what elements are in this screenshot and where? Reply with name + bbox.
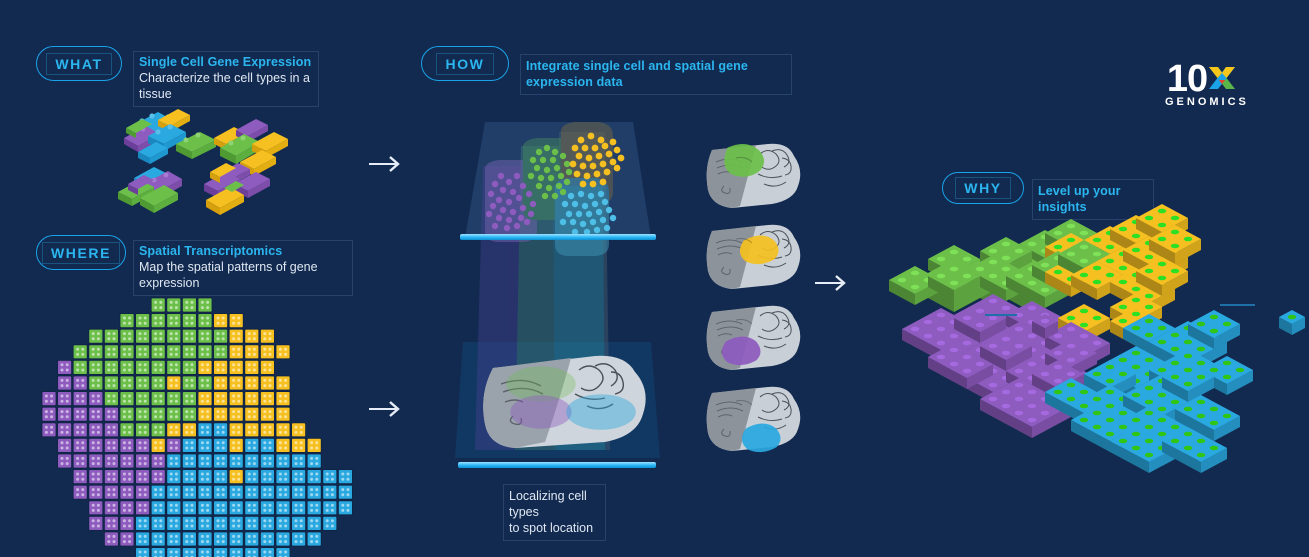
highlight-region: [722, 337, 760, 365]
spot-tile: [151, 516, 165, 530]
spot-tile: [167, 532, 181, 546]
spot-tile: [198, 423, 212, 437]
spot-tile: [245, 501, 259, 515]
caption-what-desc: Characterize the cell types in a tissue: [139, 70, 313, 102]
spot-tile: [104, 454, 118, 468]
spot-tile: [260, 392, 274, 406]
spot-tile: [73, 376, 87, 390]
spot-tile: [182, 376, 196, 390]
spot-tile: [136, 470, 150, 484]
spot-tile: [276, 454, 290, 468]
spot-tile: [198, 329, 212, 343]
spot-tile: [214, 485, 228, 499]
spot-tile: [151, 501, 165, 515]
spot-tile: [229, 407, 243, 421]
caption-what-title: Single Cell Gene Expression: [139, 55, 313, 70]
spot-tile: [89, 392, 103, 406]
pill-where: WHERE: [36, 235, 126, 270]
spot-tile: [151, 485, 165, 499]
caption-how-title: Integrate single cell and spatial gene e…: [526, 58, 786, 90]
spot-tile: [151, 298, 165, 312]
spot-tile: [182, 532, 196, 546]
spot-tile: [73, 345, 87, 359]
spot-tile: [198, 516, 212, 530]
spot-tile: [120, 360, 134, 374]
spot-tile: [89, 376, 103, 390]
caption-localizing-line1: Localizing cell types: [509, 488, 600, 520]
spot-tile: [73, 407, 87, 421]
spot-tile: [136, 485, 150, 499]
spot-tile: [182, 485, 196, 499]
spot-tile: [229, 532, 243, 546]
spot-tile: [260, 485, 274, 499]
spot-tile: [120, 501, 134, 515]
spot-tile: [167, 392, 181, 406]
highlight-region: [725, 144, 764, 176]
spot-tile: [89, 407, 103, 421]
cyan-bar-top: [460, 234, 656, 240]
spot-tile: [104, 501, 118, 515]
spot-tile: [104, 423, 118, 437]
spot-tile: [120, 423, 134, 437]
spot-tile: [245, 407, 259, 421]
spot-tile: [182, 360, 196, 374]
spot-tile: [89, 454, 103, 468]
spot-tile: [89, 345, 103, 359]
spot-tile: [167, 516, 181, 530]
spot-tile: [292, 438, 306, 452]
arrow-single-cell-to-integration: [368, 152, 404, 176]
caption-how: Integrate single cell and spatial gene e…: [520, 54, 792, 95]
spot-tile: [42, 392, 56, 406]
spot-tile: [182, 516, 196, 530]
spot-tile: [292, 532, 306, 546]
spot-tile: [307, 516, 321, 530]
spot-tile: [120, 329, 134, 343]
spot-tile: [276, 470, 290, 484]
spot-tile: [182, 501, 196, 515]
spot-tile: [323, 470, 337, 484]
spot-tile: [167, 485, 181, 499]
spot-tile: [214, 548, 228, 557]
spot-tile: [229, 376, 243, 390]
spot-tile: [151, 438, 165, 452]
spot-tile: [198, 454, 212, 468]
spot-tile: [136, 376, 150, 390]
spot-tile: [167, 548, 181, 557]
spot-tile: [104, 360, 118, 374]
spot-tile: [167, 454, 181, 468]
spot-tile: [42, 423, 56, 437]
spot-tile: [214, 376, 228, 390]
spot-tile: [307, 438, 321, 452]
caption-where-desc: Map the spatial patterns of gene express…: [139, 259, 347, 291]
spot-tile: [120, 314, 134, 328]
spot-tile: [89, 485, 103, 499]
spot-tile: [245, 392, 259, 406]
spot-tile: [276, 548, 290, 557]
spot-tile: [276, 516, 290, 530]
spot-tile: [198, 407, 212, 421]
spot-tile: [323, 501, 337, 515]
logo-wordmark: GENOMICS: [1165, 96, 1237, 108]
pill-how-label: HOW: [436, 53, 493, 75]
spot-tile: [104, 376, 118, 390]
spot-tile: [182, 407, 196, 421]
spot-tile: [73, 454, 87, 468]
spot-tile: [89, 329, 103, 343]
spot-tile: [338, 485, 352, 499]
spot-tile: [167, 376, 181, 390]
spot-tile: [89, 438, 103, 452]
spot-tile: [120, 454, 134, 468]
spot-tile: [151, 423, 165, 437]
spot-tile: [136, 532, 150, 546]
spot-tile: [198, 548, 212, 557]
spot-tile: [182, 345, 196, 359]
spot-tile: [120, 470, 134, 484]
spot-tile: [214, 454, 228, 468]
spot-tile: [323, 516, 337, 530]
spot-tile: [151, 454, 165, 468]
spot-tile: [198, 298, 212, 312]
spot-tile: [151, 532, 165, 546]
caption-why: Level up your insights: [1032, 179, 1154, 220]
spot-tile: [136, 392, 150, 406]
spot-tile: [245, 376, 259, 390]
caption-localizing-line2: to spot location: [509, 520, 600, 536]
spot-tile: [229, 485, 243, 499]
region-blue: [567, 395, 635, 429]
spot-tile: [214, 392, 228, 406]
spot-tile: [276, 485, 290, 499]
spot-tile: [167, 329, 181, 343]
spot-tile: [276, 532, 290, 546]
spot-tile: [136, 548, 150, 557]
spot-tile: [276, 376, 290, 390]
spot-tile: [58, 423, 72, 437]
spot-tile: [229, 329, 243, 343]
spot-tile: [245, 345, 259, 359]
spot-tile: [182, 298, 196, 312]
caption-localizing: Localizing cell types to spot location: [503, 484, 606, 541]
spot-tile: [89, 360, 103, 374]
spot-tile: [73, 438, 87, 452]
spot-tile: [136, 438, 150, 452]
spot-tile: [307, 485, 321, 499]
lego-brick-clusters: [118, 100, 308, 210]
spot-tile: [151, 360, 165, 374]
spot-tile: [214, 532, 228, 546]
spot-tile: [245, 454, 259, 468]
spot-tile: [214, 438, 228, 452]
spot-tile: [167, 345, 181, 359]
spot-tile: [276, 392, 290, 406]
spot-tile: [260, 423, 274, 437]
spot-tile: [214, 360, 228, 374]
spot-tile: [260, 376, 274, 390]
spot-tile: [198, 376, 212, 390]
spot-tile: [182, 470, 196, 484]
spot-tile: [136, 407, 150, 421]
spot-tile: [151, 407, 165, 421]
spot-tile: [276, 345, 290, 359]
logo-x-icon: [1209, 67, 1235, 97]
spot-tile: [229, 360, 243, 374]
spot-tile: [151, 548, 165, 557]
spot-tile: [136, 345, 150, 359]
spot-tile: [120, 407, 134, 421]
spot-tile: [136, 360, 150, 374]
pill-why: WHY: [942, 172, 1024, 204]
spot-tile: [151, 470, 165, 484]
spot-tile: [307, 501, 321, 515]
spot-tile: [245, 485, 259, 499]
pill-how: HOW: [421, 46, 509, 81]
brain-section: [707, 306, 801, 370]
spot-tile: [198, 392, 212, 406]
lego-block: [1279, 310, 1305, 335]
spot-tile: [104, 392, 118, 406]
spot-tile: [214, 407, 228, 421]
spot-tile: [151, 392, 165, 406]
brain-section: [707, 144, 801, 208]
spot-tile: [167, 360, 181, 374]
spot-tile: [58, 360, 72, 374]
spot-tile: [276, 438, 290, 452]
spot-tile: [260, 407, 274, 421]
spot-tile: [120, 345, 134, 359]
spot-tile: [292, 470, 306, 484]
spot-tile: [323, 485, 337, 499]
spot-tile: [167, 470, 181, 484]
spot-tile: [338, 470, 352, 484]
spot-tile: [214, 516, 228, 530]
spot-tile: [167, 407, 181, 421]
arrow-spatial-to-integration: [368, 397, 404, 421]
spot-tile: [104, 470, 118, 484]
caption-why-title: Level up your insights: [1038, 183, 1148, 215]
highlight-region: [742, 424, 780, 452]
spot-tile: [307, 454, 321, 468]
spot-tile: [260, 548, 274, 557]
spot-tile: [58, 438, 72, 452]
spot-tile: [89, 501, 103, 515]
brain-section: [707, 225, 801, 289]
spot-tile: [245, 423, 259, 437]
caption-what: Single Cell Gene Expression Characterize…: [133, 51, 319, 107]
spot-tile: [292, 485, 306, 499]
spot-tile: [260, 501, 274, 515]
spot-tile: [182, 314, 196, 328]
spot-tile: [151, 345, 165, 359]
caption-where-title: Spatial Transcriptomics: [139, 244, 347, 259]
spot-tile: [136, 454, 150, 468]
spot-tile: [245, 532, 259, 546]
spot-tile: [120, 532, 134, 546]
spot-tile: [104, 485, 118, 499]
spot-tile: [182, 423, 196, 437]
spot-tile: [182, 392, 196, 406]
spot-tile: [338, 501, 352, 515]
spot-tile: [73, 470, 87, 484]
spot-tile: [245, 516, 259, 530]
brain-section: [707, 387, 801, 452]
spot-tile: [151, 314, 165, 328]
spot-tile: [89, 516, 103, 530]
spot-tile: [151, 376, 165, 390]
spot-tile: [198, 314, 212, 328]
spot-tile: [182, 438, 196, 452]
spot-tile: [276, 423, 290, 437]
highlight-region: [740, 236, 778, 264]
spot-tile: [58, 376, 72, 390]
spot-tile: [307, 470, 321, 484]
spot-tile: [136, 501, 150, 515]
spot-tile: [73, 392, 87, 406]
spot-tile: [198, 485, 212, 499]
spot-tile: [229, 345, 243, 359]
arrow-integration-to-insights: [814, 271, 850, 295]
spot-tile: [245, 548, 259, 557]
logo-number: 10: [1167, 60, 1207, 98]
spot-tile: [260, 470, 274, 484]
spot-tile: [136, 329, 150, 343]
brain-spot-mosaic: [40, 296, 360, 546]
spot-tile: [198, 532, 212, 546]
spot-tile: [229, 423, 243, 437]
spot-tile: [229, 470, 243, 484]
cyan-bar-bottom: [458, 462, 656, 468]
spot-tile: [73, 360, 87, 374]
spot-tile: [214, 501, 228, 515]
pill-why-label: WHY: [955, 177, 1010, 199]
spot-tile: [260, 345, 274, 359]
spot-tile: [229, 454, 243, 468]
spot-tile: [260, 438, 274, 452]
spot-tile: [214, 470, 228, 484]
spot-tile: [214, 345, 228, 359]
spot-tile: [151, 329, 165, 343]
spot-tile: [229, 548, 243, 557]
spot-tile: [136, 516, 150, 530]
spot-tile: [214, 314, 228, 328]
spot-tile: [214, 329, 228, 343]
spot-tile: [292, 454, 306, 468]
spot-tile: [260, 532, 274, 546]
spot-tile: [73, 423, 87, 437]
spot-tile: [214, 423, 228, 437]
pill-what-label: WHAT: [46, 53, 111, 75]
spot-tile: [182, 329, 196, 343]
spot-tile: [58, 454, 72, 468]
spot-tile: [120, 485, 134, 499]
spot-tile: [58, 392, 72, 406]
spot-tile: [229, 392, 243, 406]
spot-tile: [104, 532, 118, 546]
spot-tile: [198, 470, 212, 484]
spot-tile: [136, 423, 150, 437]
spot-tile: [104, 407, 118, 421]
brain-sections-column: [702, 138, 808, 430]
spot-tile: [276, 501, 290, 515]
spot-tile: [104, 329, 118, 343]
spot-tile: [58, 407, 72, 421]
spot-tile: [276, 407, 290, 421]
spot-tile: [167, 423, 181, 437]
spot-tile: [292, 501, 306, 515]
spot-tile: [104, 438, 118, 452]
integration-panels: [455, 110, 660, 470]
spot-tile: [245, 360, 259, 374]
pill-where-label: WHERE: [42, 242, 120, 264]
spot-tile: [167, 438, 181, 452]
spot-tile: [260, 329, 274, 343]
spot-tile: [198, 360, 212, 374]
spot-tile: [229, 314, 243, 328]
spot-tile: [104, 516, 118, 530]
spot-tile: [198, 501, 212, 515]
spot-tile: [260, 516, 274, 530]
spot-tile: [260, 360, 274, 374]
spot-tile: [120, 392, 134, 406]
spot-tile: [89, 470, 103, 484]
spot-tile: [120, 516, 134, 530]
caption-where: Spatial Transcriptomics Map the spatial …: [133, 240, 353, 296]
spot-tile: [198, 438, 212, 452]
spot-tile: [120, 438, 134, 452]
spot-tile: [120, 376, 134, 390]
spot-tile: [42, 407, 56, 421]
spot-tile: [167, 501, 181, 515]
spot-tile: [245, 438, 259, 452]
pill-what: WHAT: [36, 46, 122, 81]
lego-brain-isometric: [925, 240, 1260, 425]
spot-tile: [167, 298, 181, 312]
spot-tile: [104, 345, 118, 359]
logo-10x-genomics: 10 GENOMICS: [1165, 60, 1237, 108]
spot-tile: [245, 329, 259, 343]
spot-tile: [292, 423, 306, 437]
spot-tile: [73, 485, 87, 499]
spot-tile: [182, 548, 196, 557]
spot-tile: [245, 470, 259, 484]
spot-tile: [229, 516, 243, 530]
spot-tile: [167, 314, 181, 328]
spot-tile: [198, 345, 212, 359]
spot-tile: [307, 532, 321, 546]
region-purple: [511, 396, 571, 428]
spot-tile: [260, 454, 274, 468]
spot-tile: [182, 454, 196, 468]
spot-tile: [229, 438, 243, 452]
spot-tile: [136, 314, 150, 328]
tissue-section: [483, 356, 645, 448]
infographic-canvas: WHAT Single Cell Gene Expression Charact…: [0, 0, 1309, 557]
spot-tile: [292, 516, 306, 530]
spot-tile: [229, 501, 243, 515]
spot-tile: [89, 423, 103, 437]
